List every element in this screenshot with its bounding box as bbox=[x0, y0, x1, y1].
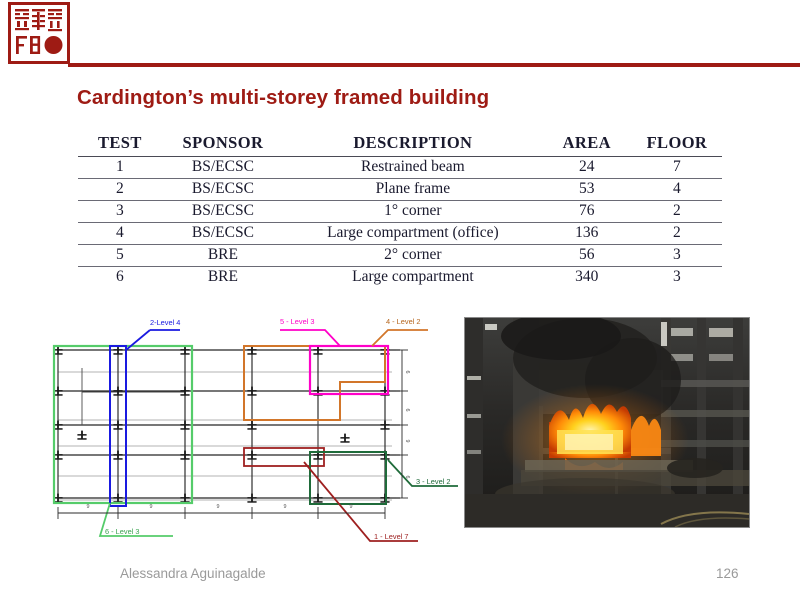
label-test-4: 4 - Level 2 bbox=[386, 317, 421, 326]
table-row: 2 BS/ECSC Plane frame 53 4 bbox=[78, 179, 722, 201]
seal-glyphs bbox=[11, 5, 67, 61]
label-test-2: 2-Level 4 bbox=[150, 318, 180, 327]
dimension-label: 6 bbox=[404, 476, 410, 479]
column-header-description: DESCRIPTION bbox=[284, 133, 542, 157]
page-title: Cardington’s multi-storey framed buildin… bbox=[77, 86, 737, 110]
dimension-labels-vertical: 6 6 9 6 bbox=[404, 371, 410, 479]
tests-table-container: TEST SPONSOR DESCRIPTION AREA FLOOR 1 BS… bbox=[78, 133, 722, 288]
cell-floor: 4 bbox=[632, 179, 722, 201]
column-symbols bbox=[53, 346, 389, 503]
cell-description: 2° corner bbox=[284, 245, 542, 267]
table-row: 5 BRE 2° corner 56 3 bbox=[78, 245, 722, 267]
cell-test: 1 bbox=[78, 157, 162, 179]
cell-test: 3 bbox=[78, 201, 162, 223]
table-row: 6 BRE Large compartment 340 3 bbox=[78, 267, 722, 289]
cell-area: 56 bbox=[542, 245, 632, 267]
table-row: 4 BS/ECSC Large compartment (office) 136… bbox=[78, 223, 722, 245]
cell-test: 6 bbox=[78, 267, 162, 289]
structural-plan-diagram: 2-Level 4 5 - Level 3 4 - Level 2 3 - Le… bbox=[40, 310, 460, 560]
cell-floor: 3 bbox=[632, 245, 722, 267]
cell-area: 76 bbox=[542, 201, 632, 223]
footer-page-number: 126 bbox=[716, 566, 739, 581]
cell-description: Restrained beam bbox=[284, 157, 542, 179]
label-test-1: 1 - Level 7 bbox=[374, 532, 409, 541]
cell-description: Plane frame bbox=[284, 179, 542, 201]
cell-test: 2 bbox=[78, 179, 162, 201]
zone-outline-test-4 bbox=[244, 346, 385, 420]
dimension-label: 9 bbox=[404, 440, 410, 443]
dimension-line-horizontal bbox=[58, 507, 385, 519]
dimension-label: 6 bbox=[404, 409, 410, 412]
leader-test-4 bbox=[372, 330, 428, 346]
cardington-fire-test-photo bbox=[464, 317, 750, 528]
plan-svg: 2-Level 4 5 - Level 3 4 - Level 2 3 - Le… bbox=[40, 310, 460, 560]
table-row: 3 BS/ECSC 1° corner 76 2 bbox=[78, 201, 722, 223]
cell-description: 1° corner bbox=[284, 201, 542, 223]
column-header-area: AREA bbox=[542, 133, 632, 157]
cell-description: Large compartment (office) bbox=[284, 223, 542, 245]
cell-sponsor: BS/ECSC bbox=[162, 157, 284, 179]
cell-sponsor: BS/ECSC bbox=[162, 201, 284, 223]
cell-sponsor: BS/ECSC bbox=[162, 223, 284, 245]
cell-test: 5 bbox=[78, 245, 162, 267]
header-rule bbox=[68, 63, 800, 67]
dimension-label: 9 bbox=[217, 504, 220, 510]
dimension-label: 9 bbox=[87, 504, 90, 510]
column-header-test: TEST bbox=[78, 133, 162, 157]
fire-photo-svg bbox=[465, 318, 749, 527]
label-test-3: 3 - Level 2 bbox=[416, 477, 451, 486]
leader-test-5 bbox=[280, 330, 340, 346]
cell-area: 53 bbox=[542, 179, 632, 201]
zone-outline-test-3 bbox=[310, 452, 386, 504]
tests-table: TEST SPONSOR DESCRIPTION AREA FLOOR 1 BS… bbox=[78, 133, 722, 288]
cell-area: 24 bbox=[542, 157, 632, 179]
label-test-5: 5 - Level 3 bbox=[280, 317, 315, 326]
chinese-seal-logo bbox=[8, 2, 70, 64]
table-row: 1 BS/ECSC Restrained beam 24 7 bbox=[78, 157, 722, 179]
cell-floor: 3 bbox=[632, 267, 722, 289]
column-lines bbox=[58, 346, 385, 502]
table-header-row: TEST SPONSOR DESCRIPTION AREA FLOOR bbox=[78, 133, 722, 157]
dimension-label: 6 bbox=[404, 371, 410, 374]
cell-sponsor: BS/ECSC bbox=[162, 179, 284, 201]
footer-author: Alessandra Aguinagalde bbox=[120, 566, 266, 581]
column-header-sponsor: SPONSOR bbox=[162, 133, 284, 157]
column-header-floor: FLOOR bbox=[632, 133, 722, 157]
zone-outline-test-1 bbox=[244, 448, 324, 466]
cell-area: 340 bbox=[542, 267, 632, 289]
cell-sponsor: BRE bbox=[162, 267, 284, 289]
cell-floor: 7 bbox=[632, 157, 722, 179]
cell-area: 136 bbox=[542, 223, 632, 245]
cell-floor: 2 bbox=[632, 201, 722, 223]
label-test-6: 6 - Level 3 bbox=[105, 527, 140, 536]
ground-foreground bbox=[465, 494, 749, 527]
cell-floor: 2 bbox=[632, 223, 722, 245]
cell-sponsor: BRE bbox=[162, 245, 284, 267]
cell-description: Large compartment bbox=[284, 267, 542, 289]
dimension-label: 9 bbox=[350, 504, 353, 510]
dimension-label: 9 bbox=[284, 504, 287, 510]
dimension-label: 9 bbox=[150, 504, 153, 510]
cell-test: 4 bbox=[78, 223, 162, 245]
